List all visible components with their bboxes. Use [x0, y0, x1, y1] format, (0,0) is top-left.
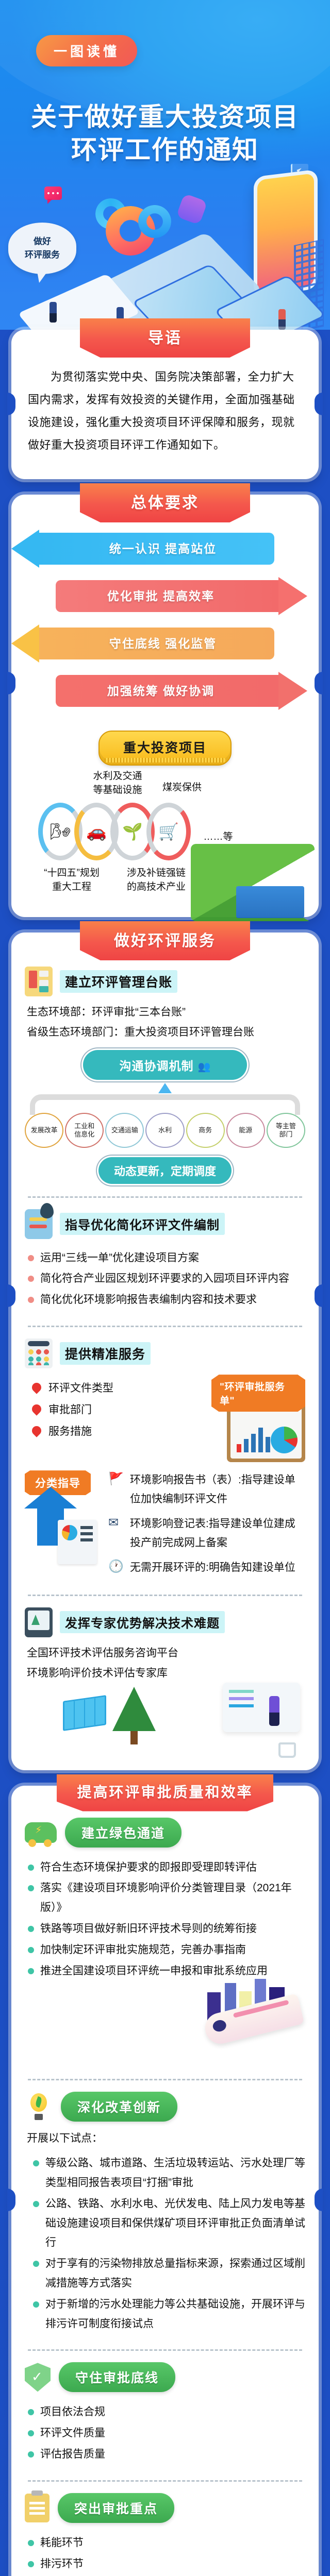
doc-pin-icon	[25, 1209, 53, 1239]
department-item: 水利	[145, 1113, 184, 1148]
solar-illustration	[25, 1687, 305, 1753]
list-item: 环评文件类型	[48, 1378, 222, 1399]
bulb-icon	[25, 2092, 53, 2121]
page-title-line2: 环评工作的通知	[14, 133, 316, 166]
list-item: 🚩环境影响报告书（表）:指导建设单位加快编制环评文件	[108, 1470, 305, 1509]
list-item: 运用“三线一单”优化建设项目方案	[27, 1248, 305, 1268]
focus-bullets: 耗能环节 排污环节 环境风险防控 生态保护措施 “两高”项目	[25, 2530, 305, 2576]
list-item: 简化符合产业园区规划环评要求的入园项目环评内容	[27, 1269, 305, 1289]
list-item: 审批部门	[48, 1399, 222, 1421]
category-label-etc: ……等	[195, 831, 241, 844]
shield-check-icon	[25, 2363, 51, 2392]
mail-icon: ✉	[108, 1516, 119, 1530]
reform-note: 开展以下试点：	[27, 2129, 305, 2148]
flag-icon: 🚩	[108, 1472, 124, 1486]
focus-pill: 突出审批重点	[58, 2493, 174, 2523]
service-line-1b: 省级生态环境部门：重大投资项目环评管理台账	[25, 1023, 305, 1043]
speech-line-1: 做好	[34, 235, 51, 248]
divider	[28, 1326, 302, 1327]
requirement-arrow-1: 统一认识 提高站位	[38, 533, 274, 565]
department-item: 发展改革	[25, 1113, 63, 1148]
section-title-overall-requirements: 总体要求	[80, 483, 250, 522]
department-item: 工业和信息化	[65, 1113, 104, 1148]
divider	[28, 1595, 302, 1596]
classified-guidance-body: 分类指导 🚩环境影响报告书（表）:指导建设单位加快编制环评文件 ✉环境影响登记表…	[25, 1470, 305, 1582]
department-item: 能源	[226, 1113, 265, 1148]
ledger-icon	[25, 967, 53, 996]
section-approval-quality: 提高环评审批质量和效率 建立绿色通道 符合生态环境保护要求的即报即受理即转评估 …	[11, 1786, 319, 2576]
category-label-infrastructure: 水利及交通等基础设施	[81, 770, 154, 798]
up-arrow-icon	[158, 1083, 172, 1093]
read-in-one-picture-badge: 一图读懂	[36, 35, 137, 66]
ev-car-icon	[25, 1822, 57, 1843]
list-item: 环评文件质量	[27, 2424, 305, 2443]
train-city-illustration	[25, 1989, 305, 2066]
service-block-title-1: 建立环评管理台账	[60, 970, 177, 993]
person-illustration	[278, 309, 286, 330]
category-label-hightech: 涉及补链强链的高技术产业	[112, 867, 200, 894]
section-title-approval-quality: 提高环评审批质量和效率	[57, 1774, 273, 1811]
section-eia-service: 做好环评服务 建立环评管理台账 生态环境部：环评审批“三本台账” 省级生态环境部…	[11, 933, 319, 1770]
bottomline-header: 守住审批底线	[25, 2362, 305, 2392]
people-icon: 👥	[198, 1061, 211, 1073]
divider	[28, 1196, 302, 1198]
green-channel-bullets: 符合生态环境保护要求的即报即受理即转评估 落实《建设项目环境影响评价分类管理目录…	[25, 1855, 305, 1985]
department-item: 交通运输	[105, 1113, 144, 1148]
service-block-header-precise: 提供精准服务	[25, 1338, 305, 1368]
list-item: 公路、铁路、水利水电、光伏发电、陆上风力发电等基础设施建设项目和保供煤矿项目环评…	[27, 2194, 305, 2252]
list-item: 落实《建设项目环境影响评价分类管理目录（2021年版）》	[27, 1878, 305, 1918]
content-body: 导语 为贯彻落实党中央、国务院决策部署，全力扩大国内需求，发挥有效投资的关键作用…	[0, 330, 330, 2576]
coordination-mechanism-pill: 沟通协调机制👥	[83, 1050, 247, 1080]
list-item: 对于新增的污水处理能力等公共基础设施，开展环评与排污许可制度衔接试点	[27, 2295, 305, 2334]
eia-approval-service-sheet-tag: "环评审批服务单"	[211, 1375, 305, 1412]
list-item: 耗能环节	[27, 2533, 305, 2553]
service-line-1a: 生态环境部：环评审批“三本台账”	[25, 1003, 305, 1023]
section-overall-requirements: 总体要求 统一认识 提高站位 优化审批 提高效率 守住底线 强化监管 加强统筹 …	[11, 495, 319, 917]
grid-icon	[25, 1338, 53, 1368]
service-block-title-4: 发挥专家优势解决技术难题	[60, 1611, 225, 1633]
category-label-coal: 煤炭保供	[148, 781, 216, 795]
pie-chart-icon	[271, 1427, 298, 1453]
requirement-arrow-row: 统一认识 提高站位	[25, 533, 305, 571]
hero-banner: 一图读懂 关于做好重大投资项目 环评工作的通知 做好 环评服务	[0, 0, 330, 330]
report-illustration	[58, 1520, 97, 1564]
service-block-header-experts: 发挥专家优势解决技术难题	[25, 1607, 305, 1637]
page-title: 关于做好重大投资项目 环评工作的通知	[0, 100, 330, 166]
major-investment-projects-pill: 重大投资项目	[98, 731, 232, 766]
clock-icon: 🕐	[108, 1560, 124, 1573]
clipboard-icon	[25, 2494, 49, 2522]
requirement-arrow-2: 优化审批 提高效率	[56, 580, 279, 612]
green-channel-pill: 建立绿色通道	[65, 1818, 181, 1848]
list-item: 对于享有的污染物排放总量指标来源，探索通过区域削减措施等方式落实	[27, 2254, 305, 2293]
reform-header: 深化改革创新	[25, 2092, 305, 2122]
service-line-4a: 全国环评技术评估服务咨询平台	[25, 1643, 305, 1664]
department-item: 等主管部门	[267, 1113, 305, 1148]
divider	[28, 2079, 302, 2080]
section-introduction: 导语 为贯彻落实党中央、国务院决策部署，全力扩大国内需求，发挥有效投资的关键作用…	[11, 330, 319, 479]
requirement-arrow-3: 守住底线 强化监管	[38, 628, 274, 659]
list-item-text: 环境影响登记表:指导建设单位建成投产前完成网上备案	[130, 1518, 295, 1549]
coordination-mechanism-label: 沟通协调机制	[120, 1059, 194, 1073]
pine-tree-icon	[112, 1687, 156, 1731]
bracket-connector	[30, 1094, 300, 1115]
gear-icon	[176, 193, 208, 225]
solar-panel-icon	[63, 1695, 106, 1731]
requirement-arrow-row: 守住底线 强化监管	[25, 628, 305, 666]
list-item: 铁路等项目做好新旧环评技术导则的统筹衔接	[27, 1919, 305, 1939]
list-item: 加快制定环评审批实施规范，完善办事指南	[27, 1940, 305, 1960]
precise-service-body: 环评文件类型 审批部门 服务措施 "环评审批服务单"	[25, 1375, 305, 1462]
list-item: 排污环节	[27, 2554, 305, 2574]
requirement-arrow-4: 加强统筹 做好协调	[56, 675, 279, 707]
precise-service-pins: 环评文件类型 审批部门 服务措施	[25, 1375, 222, 1443]
service-block-header-ledger: 建立环评管理台账	[25, 967, 305, 996]
chat-bubble-icon	[44, 187, 62, 200]
monitor-icon	[25, 1607, 53, 1637]
focus-header: 突出审批重点	[25, 2493, 305, 2523]
page-title-line1: 关于做好重大投资项目	[14, 100, 316, 133]
reform-pill: 深化改革创新	[61, 2092, 177, 2122]
industrial-illustration	[191, 844, 315, 921]
section-title-eia-service: 做好环评服务	[80, 921, 250, 960]
person-illustration	[49, 302, 57, 323]
list-item-text: 环境影响报告书（表）:指导建设单位加快编制环评文件	[130, 1474, 295, 1505]
introduction-text: 为贯彻落实党中央、国务院决策部署，全力扩大国内需求，发挥有效投资的关键作用，全面…	[25, 359, 305, 462]
bottomline-pill: 守住审批底线	[59, 2362, 175, 2392]
mug-icon	[278, 1742, 296, 1758]
section-title-introduction: 导语	[80, 318, 250, 358]
gear-icon	[138, 205, 171, 238]
service-bullets-2: 运用“三线一单”优化建设项目方案 简化符合产业园区规划环评要求的入园项目环评内容…	[25, 1245, 305, 1313]
clipboard-illustration: "环评审批服务单"	[227, 1382, 305, 1462]
speech-bubble: 做好 环评服务	[8, 223, 76, 274]
classified-guidance-art: 分类指导	[25, 1470, 102, 1582]
infographic-page: 一图读懂 关于做好重大投资项目 环评工作的通知 做好 环评服务 导语 为贯彻落实…	[0, 0, 330, 2576]
project-category-rings: 🌬 🚗 🌱 🛒 水利及交通等基础设施 煤炭保供 “十四五”规划重大工程 涉及补链…	[25, 771, 305, 900]
person-illustration	[269, 1696, 279, 1726]
coal-cart-icon: 🛒	[146, 803, 191, 860]
divider	[28, 2349, 302, 2351]
service-block-title-3: 提供精准服务	[60, 1342, 151, 1365]
requirement-arrow-row: 加强统筹 做好协调	[25, 675, 305, 713]
service-block-header-guide: 指导优化简化环评文件编制	[25, 1209, 305, 1239]
list-item: ✉环境影响登记表:指导建设单位建成投产前完成网上备案	[108, 1514, 305, 1553]
list-item: 等级公路、城市道路、生活垃圾转运站、污水处理厂等类型相同报告表项目“打捆”审批	[27, 2154, 305, 2193]
speech-line-2: 环评服务	[25, 248, 60, 262]
dashboard-illustration	[223, 1683, 300, 1732]
list-item: 评估报告质量	[27, 2445, 305, 2464]
reform-bullets: 等级公路、城市道路、生活垃圾转运站、污水处理厂等类型相同报告表项目“打捆”审批 …	[25, 2150, 305, 2337]
service-line-4b: 环境影响评价技术评估专家库	[25, 1664, 305, 1684]
bottomline-bullets: 项目依法合规 环评文件质量 评估报告质量	[25, 2399, 305, 2467]
classified-guidance-items: 🚩环境影响报告书（表）:指导建设单位加快编制环评文件 ✉环境影响登记表:指导建设…	[108, 1470, 305, 1582]
department-item: 商务	[186, 1113, 225, 1148]
green-channel-header: 建立绿色通道	[25, 1818, 305, 1848]
list-item: 符合生态环境保护要求的即报即受理即转评估	[27, 1858, 305, 1877]
dynamic-update-pill: 动态更新，定期调度	[98, 1157, 232, 1184]
list-item: 服务措施	[48, 1421, 222, 1443]
list-item: 🕐无需开展环评的:明确告知建设单位	[108, 1558, 305, 1577]
bar-chart-icon	[237, 1425, 270, 1452]
requirement-arrow-row: 优化审批 提高效率	[25, 580, 305, 618]
service-block-title-2: 指导优化简化环评文件编制	[60, 1213, 225, 1235]
list-item-text: 无需开展环评的:明确告知建设单位	[130, 1562, 295, 1573]
department-row: 发展改革 工业和信息化 交通运输 水利 商务 能源 等主管部门	[25, 1113, 305, 1148]
list-item: 简化优化环境影响报告表编制内容和技术要求	[27, 1290, 305, 1310]
category-label-14th-plan: “十四五”规划重大工程	[28, 867, 115, 894]
list-item: 项目依法合规	[27, 2402, 305, 2422]
divider	[28, 2480, 302, 2482]
